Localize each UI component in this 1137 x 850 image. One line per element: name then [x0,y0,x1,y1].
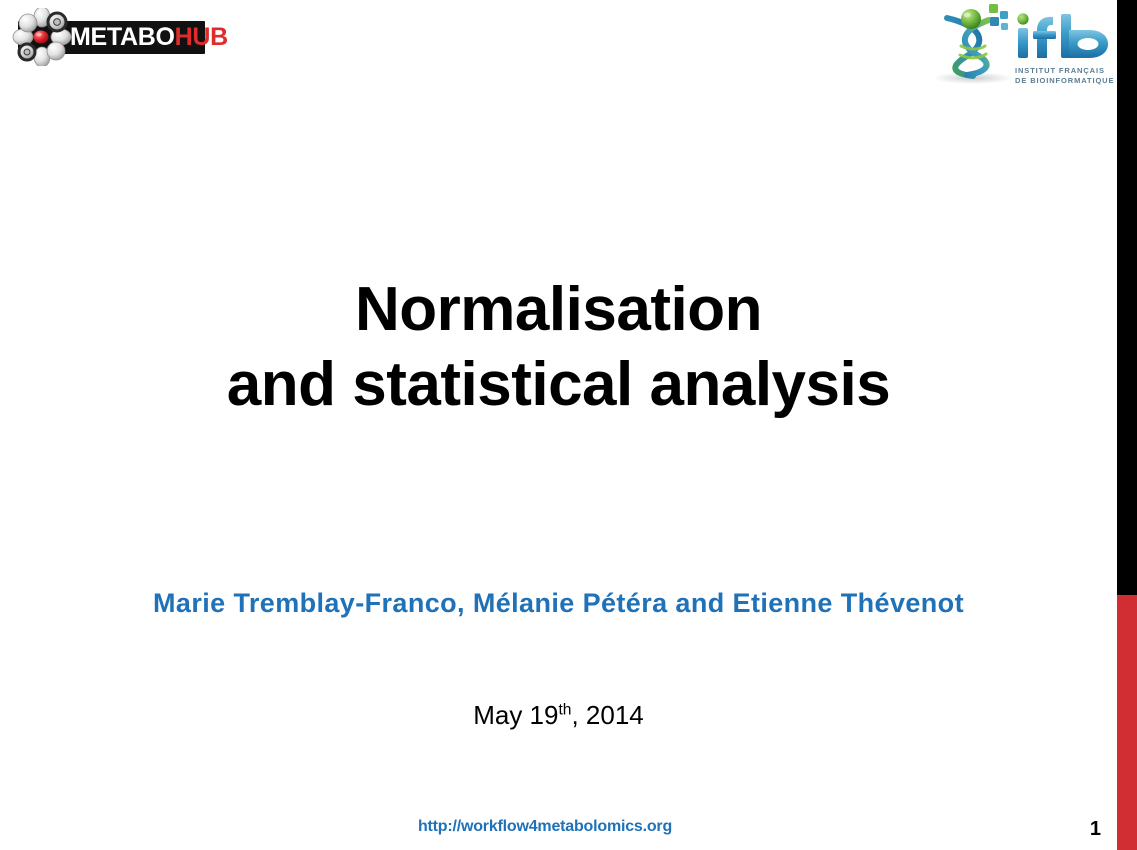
ifb-wordmark [1015,12,1111,60]
authors-line: Marie Tremblay-Franco, Mélanie Pétéra an… [0,588,1117,619]
slide-title-line-2: and statistical analysis [0,347,1117,422]
slide-title: Normalisation and statistical analysis [0,272,1117,422]
date-year: , 2014 [571,700,643,730]
right-edge-bar-red [1117,595,1137,850]
presentation-slide: METABOHUB [0,0,1137,850]
footer-url-link[interactable]: http://workflow4metabolomics.org [0,818,1090,836]
metabohub-wordmark-metabo: METABO [70,23,175,51]
right-edge-bar-black [1117,0,1137,595]
ifb-subtitle-line-2: DE BIOINFORMATIQUE [1015,76,1110,86]
date-ordinal-suffix: th [558,701,571,718]
metabohub-logo: METABOHUB [10,8,205,66]
ifb-text-block: INSTITUT FRANÇAIS DE BIOINFORMATIQUE [1015,12,1110,85]
ifb-logo: INSTITUT FRANÇAIS DE BIOINFORMATIQUE [927,2,1107,87]
date-day: May 19 [473,700,558,730]
presentation-date: May 19th, 2014 [0,700,1117,731]
slide-title-line-1: Normalisation [0,272,1117,347]
metabohub-flower-icon [12,8,72,66]
ifb-subtitle-line-1: INSTITUT FRANÇAIS [1015,66,1110,76]
ifb-dna-helix-icon [927,2,1019,84]
page-number: 1 [1090,818,1101,841]
metabohub-wordmark: METABOHUB [70,22,205,53]
ifb-subtitle: INSTITUT FRANÇAIS DE BIOINFORMATIQUE [1015,66,1110,85]
metabohub-wordmark-hub: HUB [175,23,228,51]
